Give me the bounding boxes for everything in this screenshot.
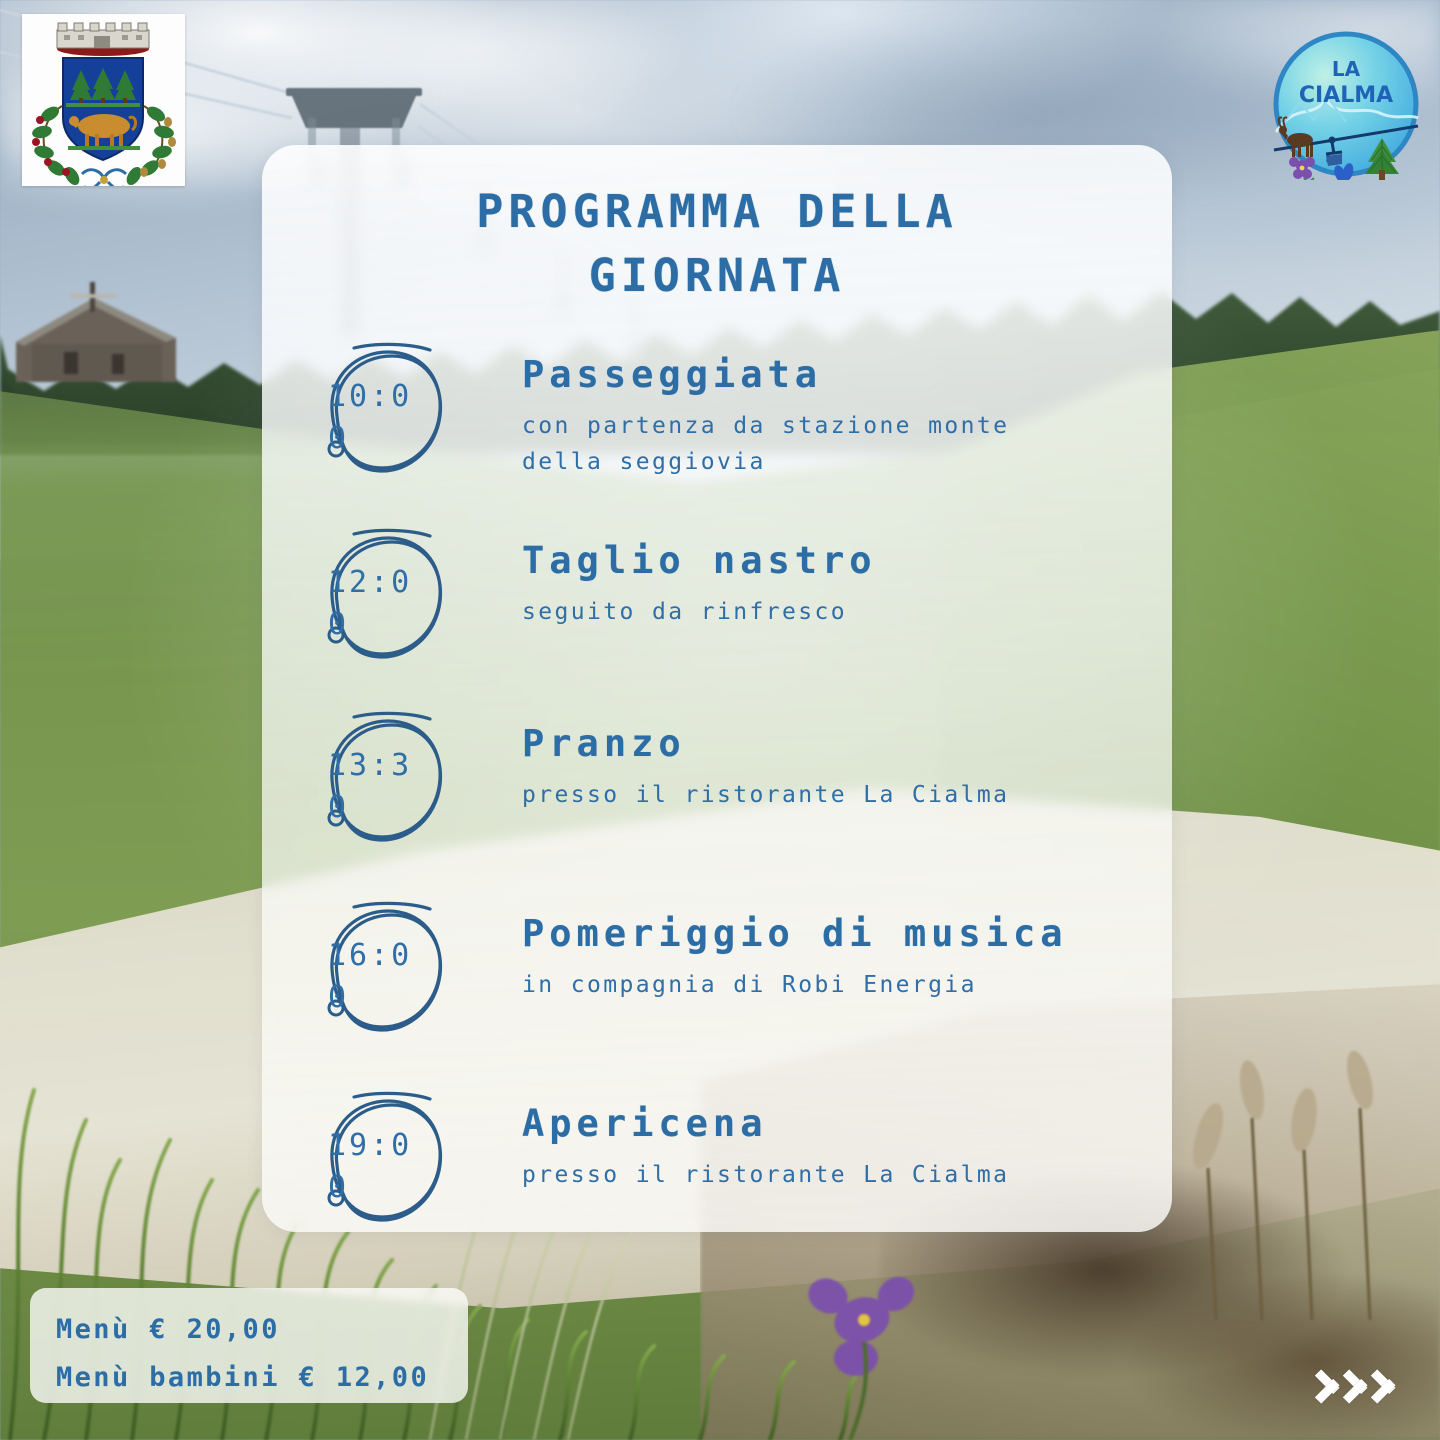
page-title: PROGRAMMA DELLA GIORNATA	[262, 145, 1172, 308]
next-slide-chevrons[interactable]	[1316, 1360, 1398, 1404]
schedule-item: 19:00 Apericena presso il ristorante La …	[262, 1081, 1172, 1232]
time-value: 16:00	[328, 935, 432, 1020]
event-title: Pomeriggio di musica	[522, 911, 1068, 957]
program-card: PROGRAMMA DELLA GIORNATA 10:00	[262, 145, 1172, 1232]
event-detail: Passeggiata con partenza da stazione mon…	[522, 332, 1009, 481]
menu-price-adult: Menù € 20,00	[56, 1306, 468, 1354]
menu-price-box: Menù € 20,00 Menù bambini € 12,00	[30, 1288, 468, 1403]
event-title: Pranzo	[522, 721, 1009, 767]
time-value: 19:00	[328, 1125, 432, 1210]
event-title: Passeggiata	[522, 352, 1009, 398]
comune-coat-of-arms	[22, 14, 185, 186]
title-line-1: PROGRAMMA DELLA	[262, 180, 1172, 244]
time-badge: 12:00	[308, 522, 454, 668]
event-detail: Pomeriggio di musica in compagnia di Rob…	[522, 891, 1068, 1004]
time-badge: 19:00	[308, 1085, 454, 1231]
chevron-right-icon[interactable]	[1372, 1360, 1398, 1404]
event-subtitle: con partenza da stazione monte della seg…	[522, 408, 1009, 481]
chevron-right-icon[interactable]	[1344, 1360, 1370, 1404]
event-subtitle: in compagnia di Robi Energia	[522, 967, 1068, 1003]
la-cialma-logo: LA CIALMA	[1270, 28, 1422, 180]
time-value: 10:00	[328, 376, 432, 461]
event-subtitle: presso il ristorante La Cialma	[522, 777, 1009, 813]
event-detail: Apericena presso il ristorante La Cialma	[522, 1081, 1009, 1194]
schedule-list: 10:00 Passeggiata con partenza da stazio…	[262, 332, 1172, 1232]
la-cialma-line1: LA	[1332, 57, 1361, 81]
event-detail: Pranzo presso il ristorante La Cialma	[522, 701, 1009, 814]
event-subtitle: presso il ristorante La Cialma	[522, 1157, 1009, 1193]
schedule-item: 10:00 Passeggiata con partenza da stazio…	[262, 332, 1172, 518]
chevron-right-icon[interactable]	[1316, 1360, 1342, 1404]
schedule-item: 13:30 Pranzo presso il ristorante La Cia…	[262, 701, 1172, 891]
menu-price-children: Menù bambini € 12,00	[56, 1354, 468, 1402]
title-line-2: GIORNATA	[262, 244, 1172, 308]
event-title: Apericena	[522, 1101, 1009, 1147]
time-value: 12:00	[328, 562, 432, 647]
time-badge: 10:00	[308, 336, 454, 482]
schedule-item: 12:00 Taglio nastro seguito da rinfresco	[262, 518, 1172, 701]
poster-canvas: LA CIALMA PROGRAMMA DELLA GIORNATA	[0, 0, 1440, 1440]
event-title: Taglio nastro	[522, 538, 877, 584]
event-subtitle: seguito da rinfresco	[522, 594, 877, 630]
la-cialma-line2: CIALMA	[1299, 83, 1393, 108]
time-badge: 13:30	[308, 705, 454, 851]
time-value: 13:30	[328, 745, 432, 830]
schedule-item: 16:00 Pomeriggio di musica in compagnia …	[262, 891, 1172, 1081]
event-detail: Taglio nastro seguito da rinfresco	[522, 518, 877, 631]
time-badge: 16:00	[308, 895, 454, 1041]
